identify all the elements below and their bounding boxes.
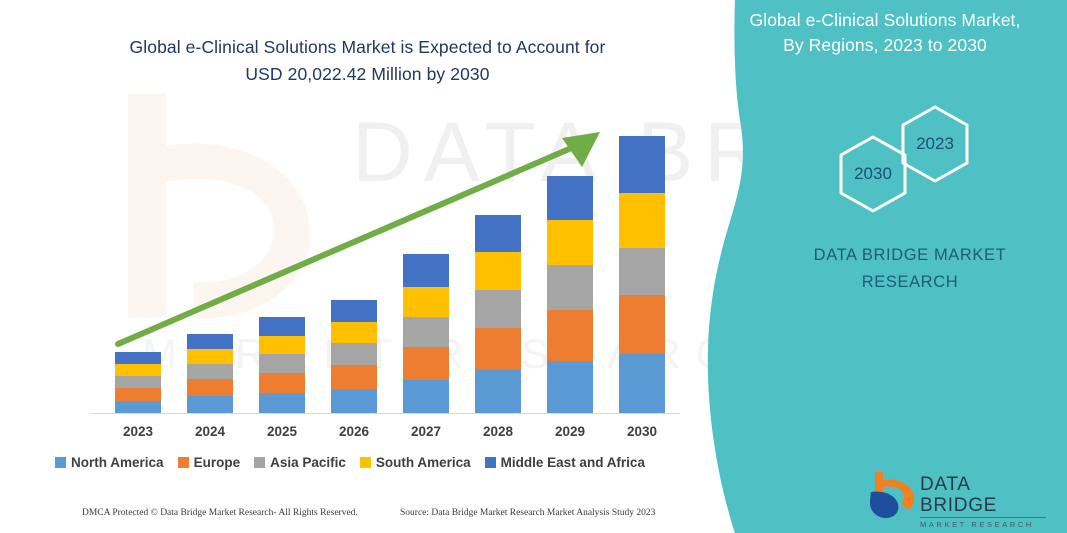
- legend-label: Europe: [194, 455, 241, 470]
- bar-2023: [115, 352, 161, 413]
- bar-segment-2024-north-america: [187, 396, 233, 413]
- bar-segment-2023-south-america: [115, 364, 161, 376]
- x-axis-label-2027: 2027: [396, 424, 456, 439]
- company-logo-wordmark: DATA BRIDGE MARKET RESEARCH: [920, 474, 1046, 530]
- legend-item-middle-east-and-africa[interactable]: Middle East and Africa: [485, 455, 645, 470]
- infographic-canvas: DATA BRIDGE MARKET RESEARCH Global e-Cli…: [0, 0, 1067, 533]
- legend-label: South America: [376, 455, 471, 470]
- company-logo-divider: [920, 517, 1046, 518]
- panel-title-line1: Global e-Clinical Solutions Market,: [750, 10, 1021, 30]
- bar-segment-2024-europe: [187, 379, 233, 396]
- bar-segment-2026-north-america: [331, 389, 377, 413]
- hexagon-badge-2030: 2030: [837, 134, 909, 214]
- company-logo-mark-icon: [868, 470, 916, 520]
- footer-copyright: DMCA Protected © Data Bridge Market Rese…: [82, 508, 358, 518]
- bar-segment-2030-south-america: [619, 193, 665, 248]
- bar-segment-2024-asia-pacific: [187, 364, 233, 379]
- legend-item-europe[interactable]: Europe: [178, 455, 241, 470]
- bar-segment-2025-north-america: [259, 393, 305, 413]
- legend-label: Asia Pacific: [270, 455, 346, 470]
- company-logo: DATA BRIDGE MARKET RESEARCH: [868, 468, 1048, 522]
- hexagon-badge-2030-label: 2030: [837, 134, 909, 214]
- legend-item-asia-pacific[interactable]: Asia Pacific: [254, 455, 346, 470]
- bar-segment-2030-middle-east-and-africa: [619, 136, 665, 193]
- legend-item-north-america[interactable]: North America: [55, 455, 164, 470]
- bar-segment-2023-north-america: [115, 401, 161, 413]
- x-axis-line: [90, 413, 680, 414]
- x-axis-labels: 20232024202520262027202820292030: [0, 424, 700, 446]
- bar-segment-2026-europe: [331, 365, 377, 389]
- x-axis-label-2028: 2028: [468, 424, 528, 439]
- hexagon-badge-2023: 2023: [899, 104, 971, 184]
- panel-brand-text: DATA BRIDGE MARKET RESEARCH: [760, 242, 1060, 296]
- x-axis-label-2024: 2024: [180, 424, 240, 439]
- bar-segment-2023-europe: [115, 388, 161, 401]
- hexagon-badge-2023-label: 2023: [899, 104, 971, 184]
- x-axis-label-2026: 2026: [324, 424, 384, 439]
- x-axis-label-2030: 2030: [612, 424, 672, 439]
- growth-arrow-icon: [100, 120, 620, 360]
- legend-item-south-america[interactable]: South America: [360, 455, 471, 470]
- bar-segment-2023-asia-pacific: [115, 376, 161, 388]
- x-axis-label-2029: 2029: [540, 424, 600, 439]
- bar-segment-2030-north-america: [619, 354, 665, 413]
- panel-brand-line2: RESEARCH: [760, 269, 1060, 296]
- company-logo-word-bottom: MARKET RESEARCH: [920, 520, 1046, 530]
- bar-segment-2029-north-america: [547, 361, 593, 413]
- x-axis-label-2023: 2023: [108, 424, 168, 439]
- bar-2030: [619, 136, 665, 413]
- x-axis-label-2025: 2025: [252, 424, 312, 439]
- legend-label: Middle East and Africa: [501, 455, 645, 470]
- bar-segment-2030-europe: [619, 295, 665, 354]
- legend-swatch-icon: [485, 457, 496, 468]
- panel-brand-line1: DATA BRIDGE MARKET: [814, 246, 1007, 264]
- chart-legend: North AmericaEuropeAsia PacificSouth Ame…: [0, 455, 700, 470]
- chart-plot-area: 20232024202520262027202820292030 North A…: [0, 0, 700, 433]
- panel-title: Global e-Clinical Solutions Market, By R…: [710, 8, 1060, 58]
- bar-segment-2025-europe: [259, 373, 305, 393]
- footer-source: Source: Data Bridge Market Research Mark…: [400, 508, 655, 518]
- hexagon-badges: 2023 2030: [825, 104, 1005, 204]
- bar-segment-2030-asia-pacific: [619, 248, 665, 295]
- bar-segment-2027-north-america: [403, 380, 449, 413]
- panel-title-line2: By Regions, 2023 to 2030: [710, 33, 1060, 58]
- bar-segment-2028-north-america: [475, 370, 521, 413]
- company-logo-word-top: DATA BRIDGE: [920, 474, 1046, 516]
- legend-swatch-icon: [254, 457, 265, 468]
- legend-label: North America: [71, 455, 164, 470]
- legend-swatch-icon: [178, 457, 189, 468]
- legend-swatch-icon: [55, 457, 66, 468]
- legend-swatch-icon: [360, 457, 371, 468]
- footer-notes: DMCA Protected © Data Bridge Market Rese…: [0, 508, 700, 528]
